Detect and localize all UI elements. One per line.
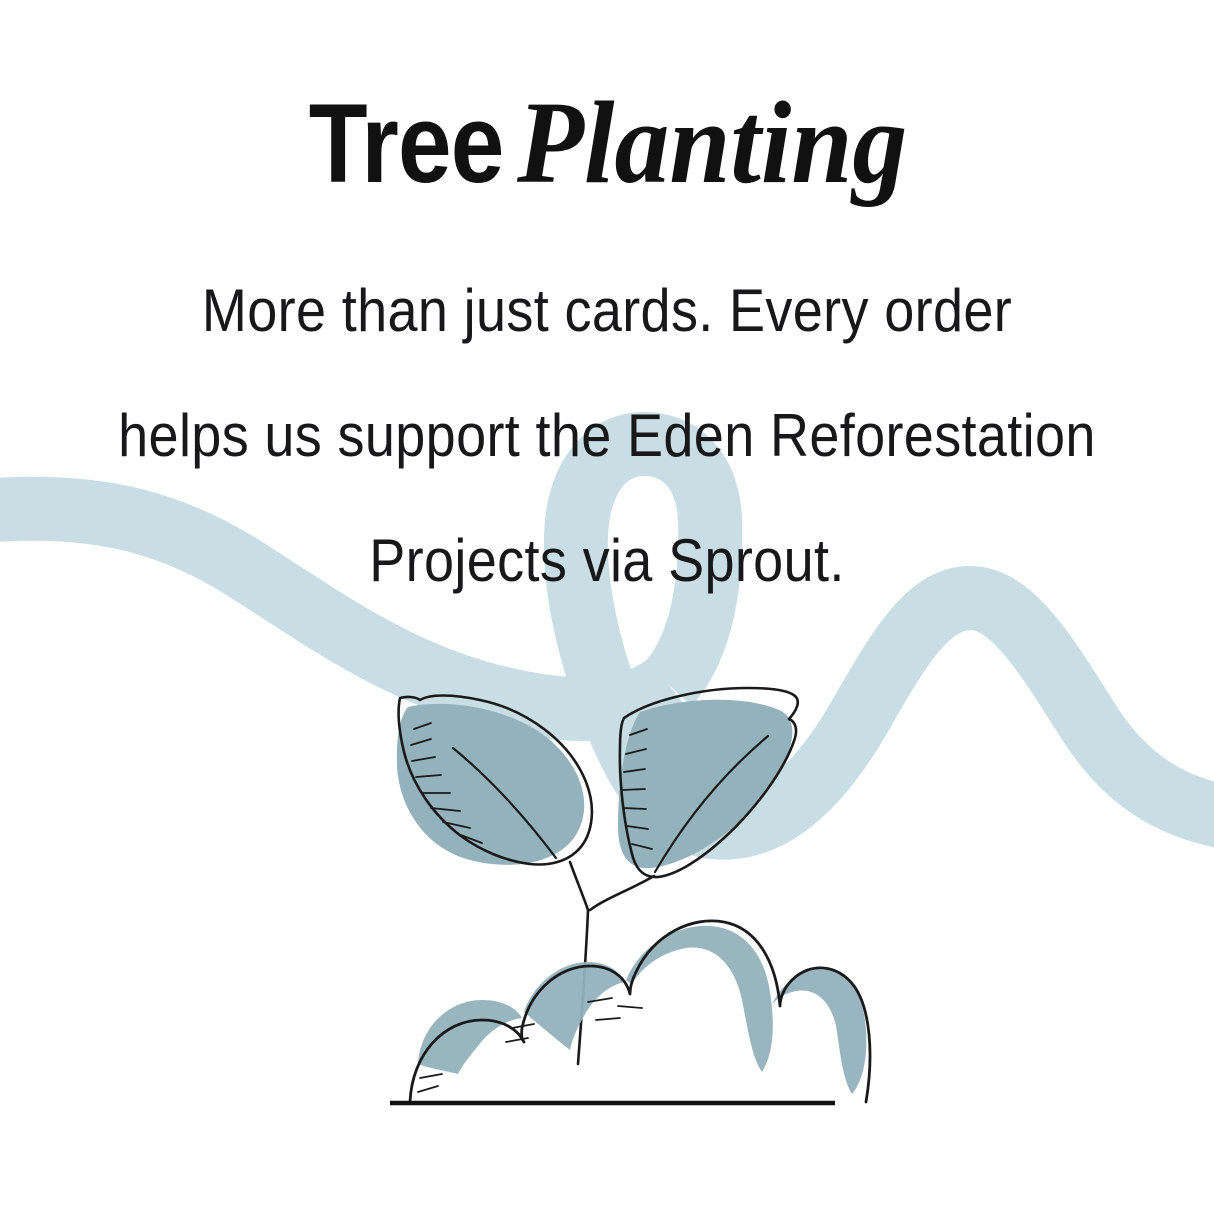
subtitle-line-1: More than just cards. Every order [61, 248, 1154, 373]
left-leaf-fill [397, 704, 584, 865]
title-italic-word: Planting [517, 84, 907, 202]
left-leaf [397, 696, 592, 865]
subtitle-paragraph: More than just cards. Every order helps … [0, 248, 1214, 623]
title-regular-word: Tree [309, 88, 504, 200]
right-leaf [618, 688, 798, 877]
right-leaf-fill [618, 700, 792, 868]
soil-shading [418, 926, 866, 1094]
subtitle-line-2: helps us support the Eden Reforestation [61, 373, 1154, 498]
promo-graphic-canvas: TreePlanting More than just cards. Every… [0, 0, 1214, 1214]
soil-mound [390, 921, 870, 1103]
subtitle-line-3: Projects via Sprout. [61, 498, 1154, 623]
page-title: TreePlanting [0, 84, 1214, 202]
